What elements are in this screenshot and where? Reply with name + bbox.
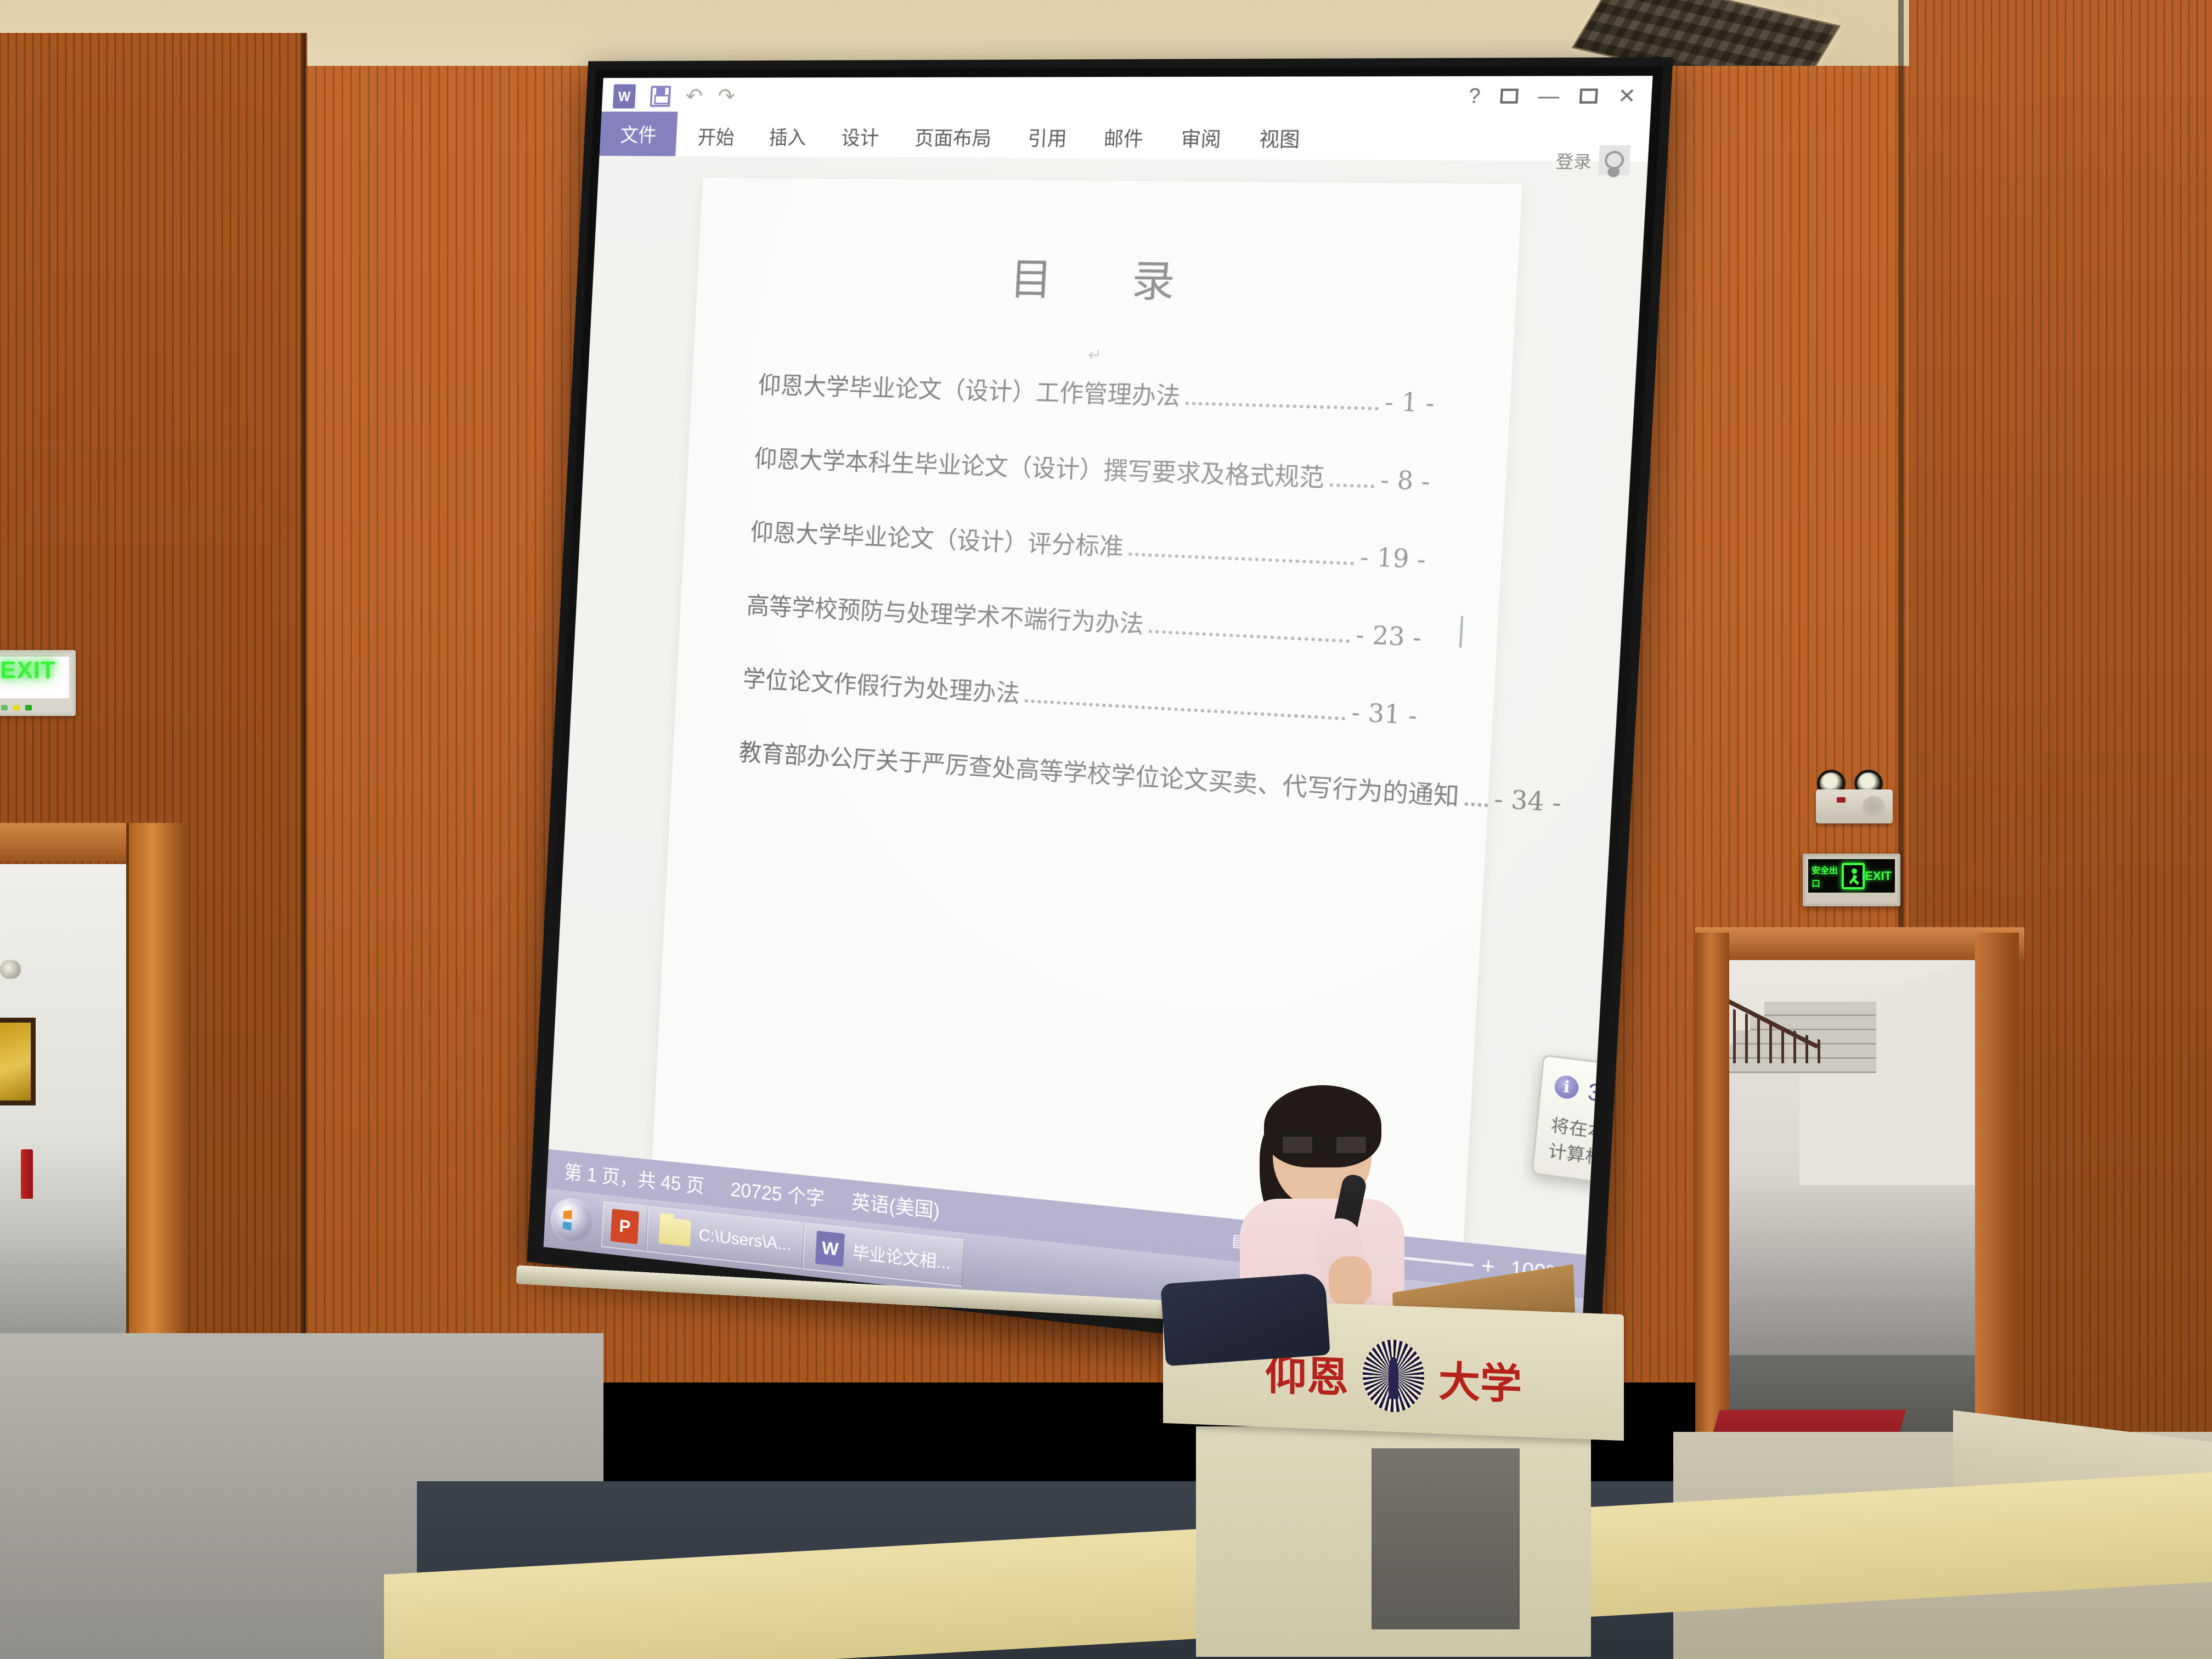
toc-entry-title: 高等学校预防与处理学术不端行为办法: [746, 586, 1145, 640]
tab-references[interactable]: 引用: [1008, 116, 1086, 158]
toc-entry-page: - 34 -: [1493, 785, 1562, 818]
emergency-unit-indicator: [1837, 797, 1846, 803]
tab-file[interactable]: 文件: [600, 111, 678, 156]
toc-entry[interactable]: 学位论文作假行为处理办法 - 31 -: [742, 659, 1418, 731]
text-cursor: [1459, 616, 1463, 648]
start-button-icon[interactable]: [550, 1196, 595, 1245]
powerpoint-icon: P: [611, 1209, 639, 1244]
window-controls[interactable]: ? — ✕: [1468, 84, 1637, 108]
tab-mailings[interactable]: 邮件: [1084, 117, 1163, 159]
running-person-icon: [1842, 863, 1865, 889]
tab-view[interactable]: 视图: [1239, 117, 1320, 160]
signin-area[interactable]: 登录: [1555, 145, 1631, 175]
toc-leader-dots: [1128, 552, 1354, 565]
ribbon-tab-bar[interactable]: 文件 开始 插入 设计 页面布局 引用 邮件 审阅 视图: [600, 115, 1651, 161]
fire-extinguisher-icon: [21, 1149, 33, 1199]
redo-icon[interactable]: ↷: [717, 86, 735, 107]
toc-entry-title: 仰恩大学毕业论文（设计）工作管理办法: [758, 366, 1182, 412]
lectern-logo-text-right: 大学: [1438, 1347, 1522, 1411]
taskbar-item-explorer[interactable]: C:\Users\A...: [646, 1206, 805, 1269]
right-door-frame-right: [1975, 933, 2019, 1448]
exit-sign-panel: 安全出口 EXIT: [1808, 859, 1895, 893]
taskbar-item-label: 毕业论文相...: [852, 1239, 952, 1274]
taskbar-item-powerpoint[interactable]: P: [601, 1201, 648, 1252]
signin-label[interactable]: 登录: [1555, 147, 1593, 172]
folder-icon: [659, 1217, 691, 1246]
exit-sign-label-cn: 安全出口: [1812, 863, 1842, 889]
staircase: [1723, 977, 1871, 1103]
tab-home[interactable]: 开始: [680, 116, 753, 156]
right-doorway: [1723, 955, 1986, 1437]
minimize-button[interactable]: —: [1537, 84, 1560, 108]
help-icon[interactable]: ?: [1468, 84, 1481, 108]
info-icon: i: [1554, 1074, 1579, 1100]
presenter-hand: [1329, 1256, 1372, 1307]
framed-artwork: [0, 1018, 36, 1105]
toc-entry[interactable]: 仰恩大学毕业论文（设计）工作管理办法 - 1 -: [758, 366, 1436, 419]
tab-design[interactable]: 设计: [823, 116, 898, 157]
toc-leader-dots: [1329, 483, 1374, 488]
close-button[interactable]: ✕: [1617, 84, 1637, 108]
exit-sign-right: 安全出口 EXIT: [1803, 854, 1900, 906]
toc-entry-page: - 23 -: [1355, 620, 1422, 652]
word-icon: W: [815, 1231, 845, 1267]
word-count[interactable]: 20725 个字: [730, 1174, 825, 1211]
maximize-button[interactable]: [1579, 88, 1598, 103]
toc-entry-page: - 31 -: [1351, 698, 1418, 731]
tab-layout[interactable]: 页面布局: [896, 116, 1011, 158]
undo-icon[interactable]: ↶: [685, 86, 703, 107]
document-heading: 目 录: [763, 242, 1443, 315]
left-door-jamb: [126, 823, 187, 1361]
word-application-window: 毕业论文相关管理制度汇编（2018年9月）(1) [兼容模式] - Micros…: [544, 76, 1653, 1362]
wall-seam: [301, 33, 306, 1404]
toc-entry[interactable]: 仰恩大学毕业论文（设计）评分标准 - 19 -: [750, 513, 1427, 575]
university-emblem-icon: [1363, 1339, 1424, 1413]
emergency-unit-grille: [1862, 796, 1885, 818]
toc-leader-dots: [1186, 402, 1379, 410]
toc-entry-title: 仰恩大学本科生毕业论文（设计）撰写要求及格式规范: [754, 439, 1325, 494]
toc-entry-page: - 19 -: [1359, 543, 1426, 574]
projection-screen-surface: 毕业论文相关管理制度汇编（2018年9月）(1) [兼容模式] - Micros…: [544, 76, 1653, 1362]
projection-screen: 毕业论文相关管理制度汇编（2018年9月）(1) [兼容模式] - Micros…: [527, 57, 1673, 1383]
exit-sign-label: EXIT: [0, 657, 69, 698]
paragraph-mark: ↵: [1087, 346, 1102, 365]
bag-on-podium: [1160, 1273, 1330, 1367]
glasses-icon: [1279, 1133, 1369, 1158]
tab-review[interactable]: 审阅: [1161, 117, 1241, 160]
taskbar-item-label: C:\Users\A...: [698, 1224, 792, 1254]
toc-entry[interactable]: 高等学校预防与处理学术不端行为办法 - 23 -: [746, 586, 1423, 654]
tab-insert[interactable]: 插入: [751, 116, 825, 157]
right-door-frame-left: [1695, 933, 1729, 1448]
toc-leader-dots: [1149, 630, 1350, 643]
toc-entry-page: - 8 -: [1380, 466, 1431, 496]
lectern-lower-panel: [1372, 1448, 1520, 1629]
toc-entry-title: 学位论文作假行为处理办法: [742, 659, 1021, 709]
emergency-light-unit: [1804, 765, 1903, 828]
avatar[interactable]: [1598, 145, 1631, 175]
ribbon-display-options-icon[interactable]: [1500, 89, 1519, 104]
document-page[interactable]: 目 录 ↵ 仰恩大学毕业论文（设计）工作管理办法 - 1 - 仰恩大学本科生毕业…: [652, 178, 1522, 1243]
toc-entry-title: 仰恩大学毕业论文（设计）评分标准: [750, 513, 1125, 563]
toc-entry[interactable]: 仰恩大学本科生毕业论文（设计）撰写要求及格式规范 - 8 -: [754, 439, 1431, 498]
exit-sign-panel: EXIT: [0, 657, 69, 698]
taskbar-item-word[interactable]: W 毕业论文相...: [803, 1222, 965, 1287]
exit-sign-left: EXIT: [0, 650, 76, 716]
lecture-hall-scene: EXIT 安全出口 EXIT: [0, 0, 2212, 1659]
toc-entry-page: - 1 -: [1384, 388, 1435, 418]
exit-sign-indicator-leds: [1, 705, 32, 710]
language-indicator[interactable]: 英语(美国): [851, 1187, 941, 1224]
save-icon[interactable]: [650, 86, 671, 107]
document-canvas[interactable]: 目 录 ↵ 仰恩大学毕业论文（设计）工作管理办法 - 1 - 仰恩大学本科生毕业…: [549, 156, 1648, 1255]
hall-spotlight-icon: [0, 960, 21, 979]
zoom-in-button[interactable]: +: [1481, 1259, 1496, 1274]
exit-sign-label-en: EXIT: [1865, 869, 1892, 883]
toc-entry-title: 教育部办公厅关于严厉查处高等学校学位论文买卖、代写行为的通知: [738, 733, 1460, 812]
toc-entry[interactable]: 教育部办公厅关于严厉查处高等学校学位论文买卖、代写行为的通知 - 34 -: [738, 733, 1414, 810]
toc-leader-dots: [1464, 802, 1488, 807]
word-app-icon: W: [613, 84, 636, 109]
toc-leader-dots: [1025, 699, 1346, 720]
